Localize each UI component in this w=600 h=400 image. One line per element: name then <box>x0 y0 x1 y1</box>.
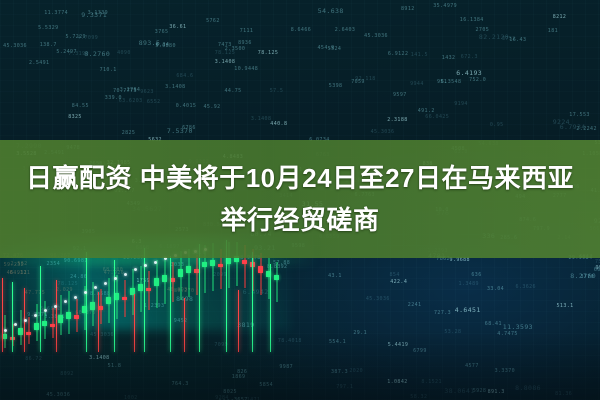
bottom-vignette <box>0 330 600 400</box>
headline-line-2: 举行经贸磋商 <box>220 200 379 240</box>
trendline-dot <box>24 319 27 322</box>
headline-line-1: 日赢配资 中美将于10月24日至27日在马来西亚 <box>26 158 574 198</box>
trendline-dot <box>144 264 147 267</box>
trendline-dot <box>54 305 57 308</box>
trendline-dot <box>124 273 127 276</box>
trendline-dot <box>104 282 107 285</box>
trendline-dot <box>14 323 17 326</box>
headline-text-block: 日赢配资 中美将于10月24日至27日在马来西亚 举行经贸磋商 <box>0 140 600 258</box>
trendline-dot <box>74 296 77 299</box>
trendline-dot <box>154 261 157 264</box>
trendline-dot <box>34 314 37 317</box>
trendline-dot <box>94 286 97 289</box>
trendline-dot <box>64 300 67 303</box>
trendline-dot <box>84 291 87 294</box>
trendline-dot <box>114 277 117 280</box>
trendline-dot <box>44 309 47 312</box>
news-banner-image: 63.0387.35.44199.91463.85367.53702099891… <box>0 0 600 400</box>
trendline-dot <box>134 268 137 271</box>
